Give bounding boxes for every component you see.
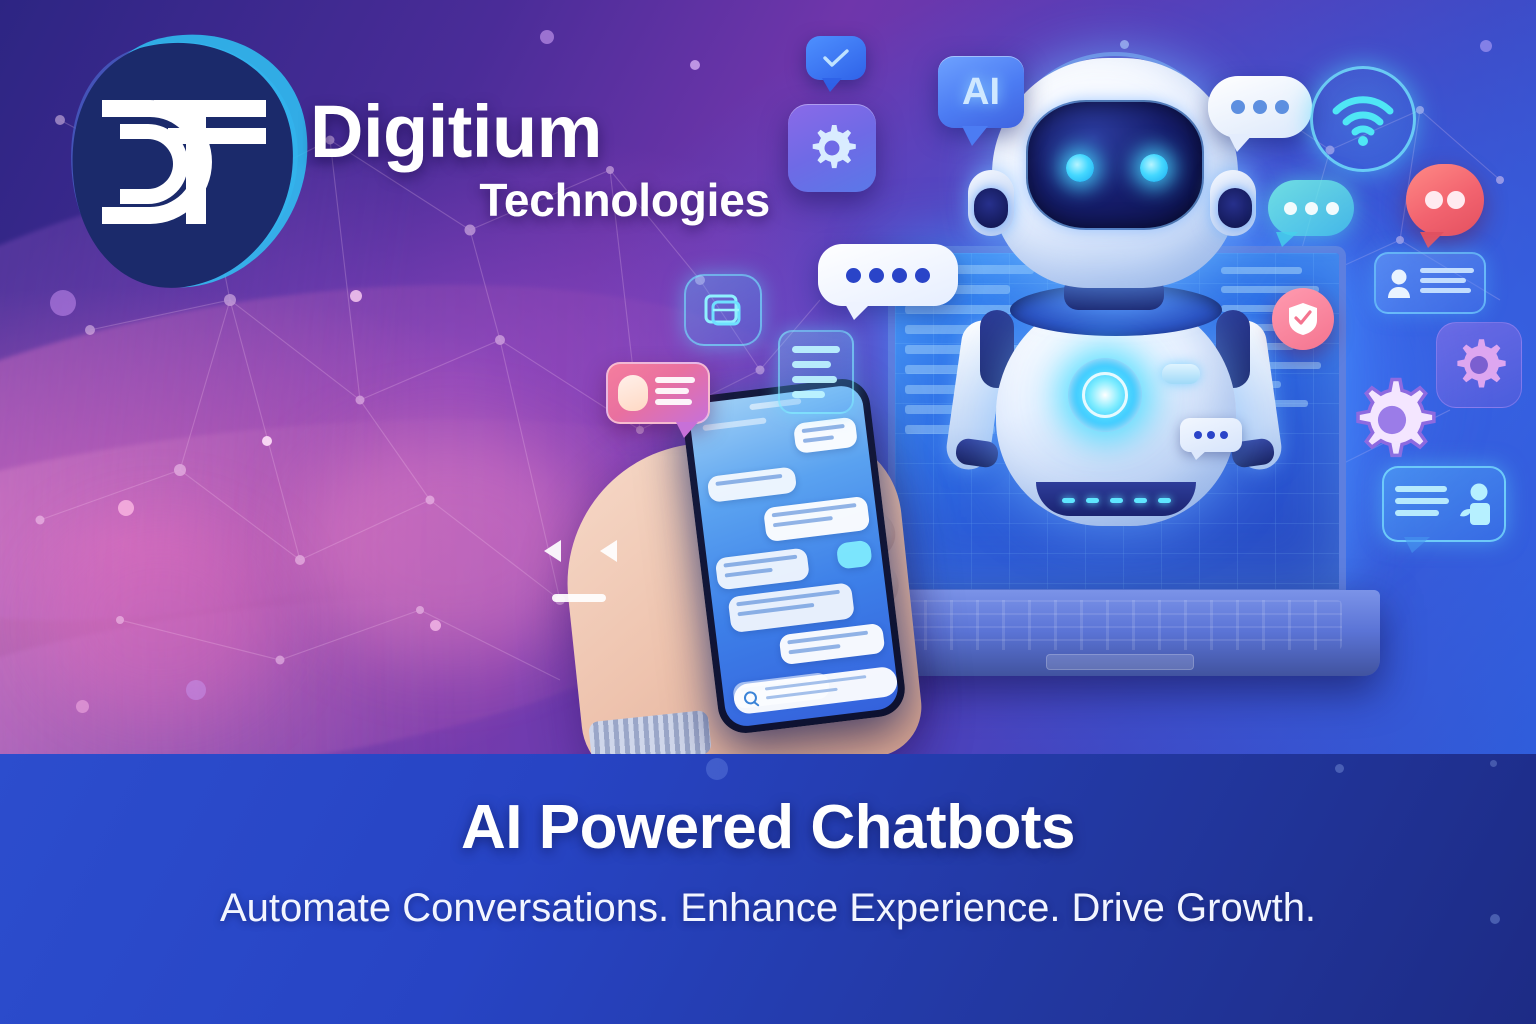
check-icon bbox=[806, 36, 866, 80]
chat-bubble-incoming bbox=[715, 547, 810, 590]
chat-bubble-outgoing bbox=[779, 623, 886, 665]
dt-logo-icon bbox=[58, 28, 318, 298]
typing-dots bbox=[818, 244, 958, 306]
divider-bar bbox=[552, 594, 606, 602]
headline: AI Powered Chatbots bbox=[0, 792, 1536, 863]
text-lines bbox=[1420, 268, 1474, 298]
gear-icon bbox=[807, 123, 857, 173]
chat-bubble-incoming bbox=[728, 582, 855, 633]
robot-led bbox=[1158, 498, 1171, 503]
bokeh-dot bbox=[706, 758, 728, 780]
chat-bubble-incoming bbox=[707, 466, 798, 503]
wifi-glyph bbox=[1330, 91, 1396, 147]
chat-reaction-icon bbox=[836, 540, 873, 570]
phone-header-label bbox=[702, 417, 766, 431]
mini-chat-bubble-icon bbox=[1180, 418, 1242, 452]
chat-bubble-outgoing bbox=[763, 496, 870, 542]
text-lines bbox=[655, 377, 698, 410]
bubble-tail bbox=[1276, 232, 1298, 247]
chat-dots bbox=[1208, 76, 1312, 138]
bubble-tail bbox=[1228, 134, 1253, 152]
avatar-icon bbox=[1386, 268, 1412, 298]
gear-icon bbox=[1348, 376, 1436, 464]
chat-bubble-teal-icon bbox=[1268, 180, 1354, 236]
brand-lockup: Digitium Technologies bbox=[310, 96, 780, 227]
phone-screen bbox=[688, 384, 900, 729]
robot-led bbox=[1134, 498, 1147, 503]
inbox-icon bbox=[684, 274, 762, 346]
logo-mark[interactable] bbox=[58, 28, 318, 298]
robot-head bbox=[992, 58, 1238, 288]
brand-suffix: Technologies bbox=[310, 173, 780, 227]
bubble-tail bbox=[1404, 537, 1430, 553]
brand-name: Digitium bbox=[310, 96, 780, 167]
play-triangle-icon bbox=[544, 540, 561, 562]
robot-led bbox=[1062, 498, 1075, 503]
shield-check-icon bbox=[1272, 288, 1334, 350]
chat-bubble-white-icon bbox=[1208, 76, 1312, 138]
caption-band: AI Powered Chatbots Automate Conversatio… bbox=[0, 754, 1536, 1024]
laptop-base bbox=[860, 590, 1380, 676]
robot-earcup-right bbox=[1218, 188, 1252, 228]
robot-visor bbox=[1026, 100, 1204, 230]
robot-chest-indicator bbox=[1162, 364, 1200, 384]
bubble-tail bbox=[1190, 450, 1207, 460]
bubble-tail bbox=[676, 422, 698, 438]
robot-led bbox=[1086, 498, 1099, 503]
robot-earcup-left bbox=[974, 188, 1008, 228]
wifi-icon bbox=[1310, 66, 1416, 172]
ai-badge: AI bbox=[938, 56, 1024, 136]
bubble-tail bbox=[844, 302, 872, 320]
bokeh-dot bbox=[1490, 760, 1497, 767]
hero-section: Digitium Technologies bbox=[0, 0, 1536, 754]
shield-glyph bbox=[1288, 302, 1318, 336]
gear-square-purple-icon bbox=[1436, 322, 1522, 408]
robot-eye-right bbox=[1140, 154, 1168, 182]
support-agent-icon bbox=[1382, 466, 1506, 542]
ai-badge-label: AI bbox=[938, 56, 1024, 128]
chat-bubble-outgoing bbox=[793, 417, 858, 454]
promotional-banner: Digitium Technologies bbox=[0, 0, 1536, 1024]
chat-bubble-red-icon bbox=[1406, 164, 1484, 236]
check-bubble-icon bbox=[806, 36, 866, 86]
search-icon bbox=[743, 691, 757, 705]
bokeh-dot bbox=[1335, 764, 1344, 773]
chat-dots bbox=[1268, 180, 1354, 236]
robot-core-ring bbox=[1082, 372, 1128, 418]
pink-card-body bbox=[606, 362, 710, 424]
message-lines-icon bbox=[778, 330, 854, 414]
laptop-keyboard bbox=[898, 600, 1342, 650]
laptop-trackpad bbox=[1046, 654, 1194, 670]
gear-glyph bbox=[1451, 337, 1507, 393]
typing-bubble-icon bbox=[818, 244, 958, 306]
subheadline: Automate Conversations. Enhance Experien… bbox=[0, 886, 1536, 931]
bubble-tail bbox=[962, 126, 988, 146]
gear-glyph bbox=[1348, 376, 1436, 464]
inbox-glyph bbox=[701, 290, 745, 330]
agent-avatar-icon bbox=[1457, 481, 1493, 527]
robot-eye-left bbox=[1066, 154, 1094, 182]
play-triangle-icon bbox=[600, 540, 617, 562]
contact-pink-card-icon bbox=[606, 362, 710, 434]
robot-led bbox=[1110, 498, 1123, 503]
gear-square-icon bbox=[788, 104, 876, 192]
bubble-tail bbox=[1420, 232, 1444, 248]
text-lines bbox=[1395, 486, 1449, 522]
avatar bbox=[618, 375, 648, 411]
bubble-tail bbox=[822, 78, 842, 92]
contact-card-icon bbox=[1374, 252, 1486, 314]
